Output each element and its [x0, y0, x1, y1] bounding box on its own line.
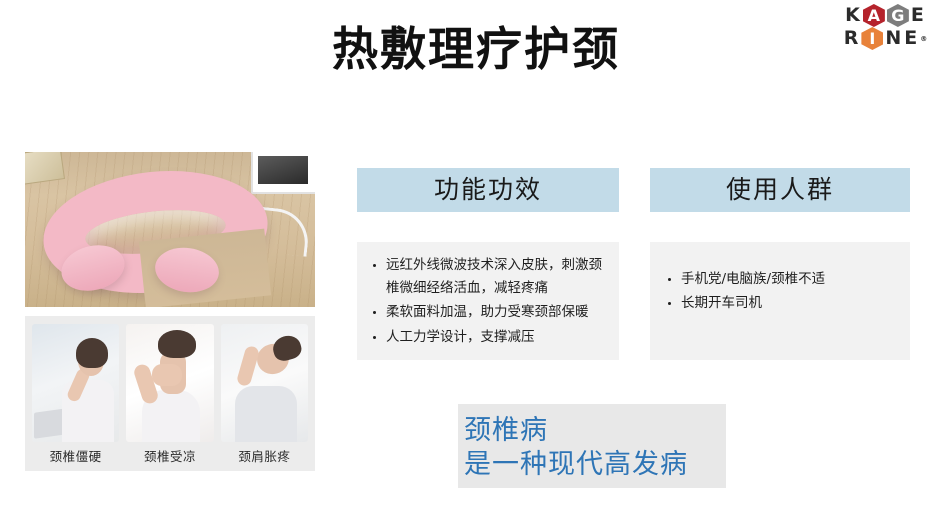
figure-hand-2 [152, 364, 182, 386]
audience-panel-body: 手机党/电脑族/颈椎不适 长期开车司机 [650, 242, 910, 360]
neck-pillow [43, 168, 268, 296]
symptom-photo-3 [221, 324, 308, 442]
logo-letter-g: G [891, 8, 904, 24]
logo-letter-a: A [868, 8, 880, 24]
page-title: 热敷理疗护颈 [0, 22, 952, 77]
features-panel-header: 功能功效 [357, 168, 619, 212]
audience-panel-header: 使用人群 [650, 168, 910, 212]
statement-block: 颈椎病 是一种现代高发病 [458, 404, 726, 488]
features-bullet-list: 远红外线微波技术深入皮肤，刺激颈椎微细经络活血，减轻疼痛 柔软面料加温，助力受寒… [371, 254, 603, 349]
figure-hair-1 [76, 338, 108, 368]
symptom-caption-2: 颈椎受凉 [126, 446, 213, 465]
features-panel-body: 远红外线微波技术深入皮肤，刺激颈椎微细经络活血，减轻疼痛 柔软面料加温，助力受寒… [357, 242, 619, 360]
symptom-caption-3: 颈肩胀疼 [221, 446, 308, 465]
features-bullet-1: 远红外线微波技术深入皮肤，刺激颈椎微细经络活血，减轻疼痛 [371, 254, 603, 300]
logo-letter-i: I [869, 31, 875, 47]
audience-bullet-2: 长期开车司机 [666, 292, 894, 315]
features-panel: 功能功效 远红外线微波技术深入皮肤，刺激颈椎微细经络活血，减轻疼痛 柔软面料加温… [357, 168, 619, 360]
statement-line-2: 是一种现代高发病 [464, 448, 726, 482]
product-photo [25, 152, 315, 307]
symptom-photo-strip: 颈椎僵硬 颈椎受凉 颈肩胀疼 [25, 316, 315, 471]
symptom-caption-1: 颈椎僵硬 [32, 446, 119, 465]
features-bullet-3: 人工力学设计，支撑减压 [371, 326, 603, 349]
audience-panel: 使用人群 手机党/电脑族/颈椎不适 长期开车司机 [650, 168, 910, 360]
statement-line-1: 颈椎病 [464, 414, 726, 448]
audience-bullet-list: 手机党/电脑族/颈椎不适 长期开车司机 [666, 268, 894, 315]
figure-body-3 [235, 386, 297, 442]
symptom-captions: 颈椎僵硬 颈椎受凉 颈肩胀疼 [32, 446, 308, 465]
symptom-photo-1 [32, 324, 119, 442]
audience-bullet-1: 手机党/电脑族/颈椎不适 [666, 268, 894, 291]
symptom-photo-row [32, 324, 308, 442]
features-bullet-2: 柔软面料加温，助力受寒颈部保暖 [371, 301, 603, 324]
symptom-photo-2 [126, 324, 213, 442]
figure-hair-2 [158, 330, 196, 358]
figure-arm-3 [235, 345, 259, 387]
